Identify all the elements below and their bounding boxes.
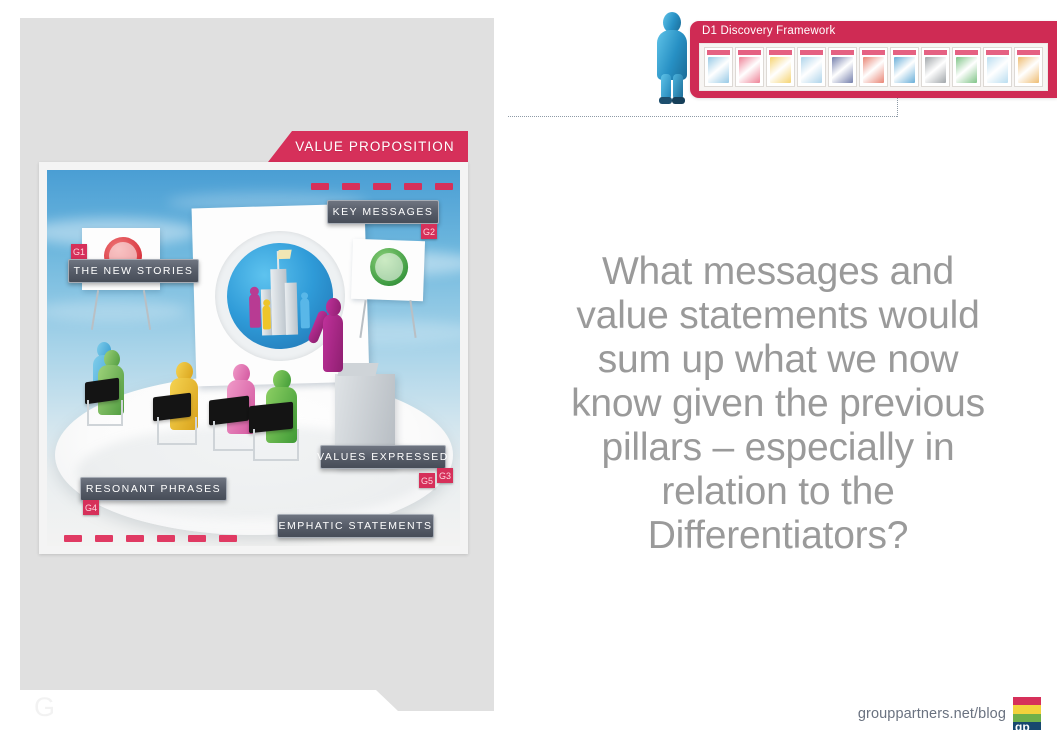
- flag-icon: [277, 250, 292, 259]
- connector-line: [508, 116, 897, 118]
- thumbnail-artwork: [1018, 57, 1039, 83]
- dash-mark: [373, 183, 391, 190]
- logo-band: [1013, 705, 1041, 713]
- framework-thumbnail[interactable]: [859, 47, 888, 87]
- dash-row-top: [311, 183, 460, 190]
- slide-canvas: G VALUE PROPOSITION: [0, 0, 1057, 748]
- framework-title: D1 Discovery Framework: [702, 25, 835, 37]
- footer-url[interactable]: grouppartners.net/blog: [858, 706, 1006, 722]
- green-disc-graphic: [369, 247, 408, 286]
- framework-thumbnail[interactable]: [704, 47, 733, 87]
- thumbnail-artwork: [956, 57, 977, 83]
- question-text: What messages and value statements would…: [552, 250, 1004, 558]
- disc-inner: [375, 253, 404, 282]
- dash-mark: [157, 535, 175, 542]
- framework-thumbnail[interactable]: [983, 47, 1012, 87]
- thumbnail-artwork: [894, 57, 915, 83]
- framework-thumbnail[interactable]: [766, 47, 795, 87]
- framework-thumbnail-strip[interactable]: [699, 43, 1048, 91]
- framework-thumbnail[interactable]: [890, 47, 919, 87]
- grouppartners-logo[interactable]: gp: [1013, 697, 1041, 730]
- framework-thumbnail[interactable]: [735, 47, 764, 87]
- tag-emphatic-statements[interactable]: EMPHATIC STATEMENTS: [277, 514, 434, 538]
- chair-frame: [157, 417, 197, 445]
- logo-band: [1013, 697, 1041, 705]
- thumbnail-artwork: [801, 57, 822, 83]
- thumbnail-artwork: [863, 57, 884, 83]
- chair-frame: [253, 429, 299, 461]
- logo-text: gp: [1015, 721, 1030, 730]
- badge-g5: G5: [419, 473, 435, 488]
- cloud-shape: [47, 300, 187, 322]
- banner-title: VALUE PROPOSITION: [268, 131, 468, 162]
- figure-yellow: [262, 305, 271, 329]
- dash-mark: [311, 183, 329, 190]
- framework-thumbnail[interactable]: [828, 47, 857, 87]
- thumbnail-artwork: [770, 57, 791, 83]
- dash-mark: [435, 183, 453, 190]
- person-foot-left: [659, 97, 672, 104]
- dash-mark: [404, 183, 422, 190]
- discovery-framework-card[interactable]: D1 Discovery Framework: [690, 21, 1057, 98]
- badge-g4: G4: [83, 500, 99, 515]
- tag-resonant-phrases[interactable]: RESONANT PHRASES: [80, 477, 227, 501]
- dash-mark: [342, 183, 360, 190]
- thumbnail-header-bar: [831, 50, 854, 55]
- dash-row-bottom: [64, 535, 237, 542]
- dash-mark: [188, 535, 206, 542]
- thumbnail-artwork: [739, 57, 760, 83]
- footer: grouppartners.net/blog gp: [858, 697, 1041, 730]
- thumbnail-header-bar: [924, 50, 947, 55]
- tag-values-expressed[interactable]: VALUES EXPRESSED: [320, 445, 446, 469]
- presenter-figure: [319, 298, 347, 380]
- dash-mark: [95, 535, 113, 542]
- figure-magenta: [249, 294, 261, 328]
- dash-mark: [126, 535, 144, 542]
- badge-g3: G3: [437, 468, 453, 483]
- thumbnail-header-bar: [769, 50, 792, 55]
- thumbnail-header-bar: [893, 50, 916, 55]
- thumbnail-header-bar: [738, 50, 761, 55]
- figure-blue: [300, 298, 310, 328]
- framework-thumbnail[interactable]: [1014, 47, 1043, 87]
- badge-g2: G2: [421, 224, 437, 239]
- thumbnail-artwork: [987, 57, 1008, 83]
- connector-riser: [897, 98, 899, 117]
- presenter-head: [326, 298, 341, 316]
- person-body: [657, 30, 687, 80]
- thumbnail-header-bar: [955, 50, 978, 55]
- framework-thumbnail[interactable]: [921, 47, 950, 87]
- badge-g1: G1: [71, 244, 87, 259]
- tag-the-new-stories[interactable]: THE NEW STORIES: [68, 259, 199, 283]
- presenter-body: [323, 314, 343, 372]
- thumbnail-artwork: [832, 57, 853, 83]
- person-foot-right: [672, 97, 685, 104]
- thumbnail-header-bar: [862, 50, 885, 55]
- standing-person-icon: [652, 12, 692, 104]
- tag-key-messages[interactable]: KEY MESSAGES: [327, 200, 439, 224]
- thumbnail-artwork: [708, 57, 729, 83]
- thumbnail-artwork: [925, 57, 946, 83]
- chair-frame: [87, 400, 123, 426]
- g-watermark: G: [34, 694, 55, 721]
- framework-thumbnail[interactable]: [952, 47, 981, 87]
- easel-right: [352, 240, 424, 300]
- dash-mark: [64, 535, 82, 542]
- thumbnail-header-bar: [1017, 50, 1040, 55]
- building-shape: [285, 283, 298, 335]
- thumbnail-header-bar: [986, 50, 1009, 55]
- dash-mark: [219, 535, 237, 542]
- value-proposition-banner: VALUE PROPOSITION: [268, 131, 468, 162]
- easel-board: [351, 239, 425, 301]
- logo-band: gp: [1013, 722, 1041, 730]
- framework-thumbnail[interactable]: [797, 47, 826, 87]
- thumbnail-header-bar: [800, 50, 823, 55]
- thumbnail-header-bar: [707, 50, 730, 55]
